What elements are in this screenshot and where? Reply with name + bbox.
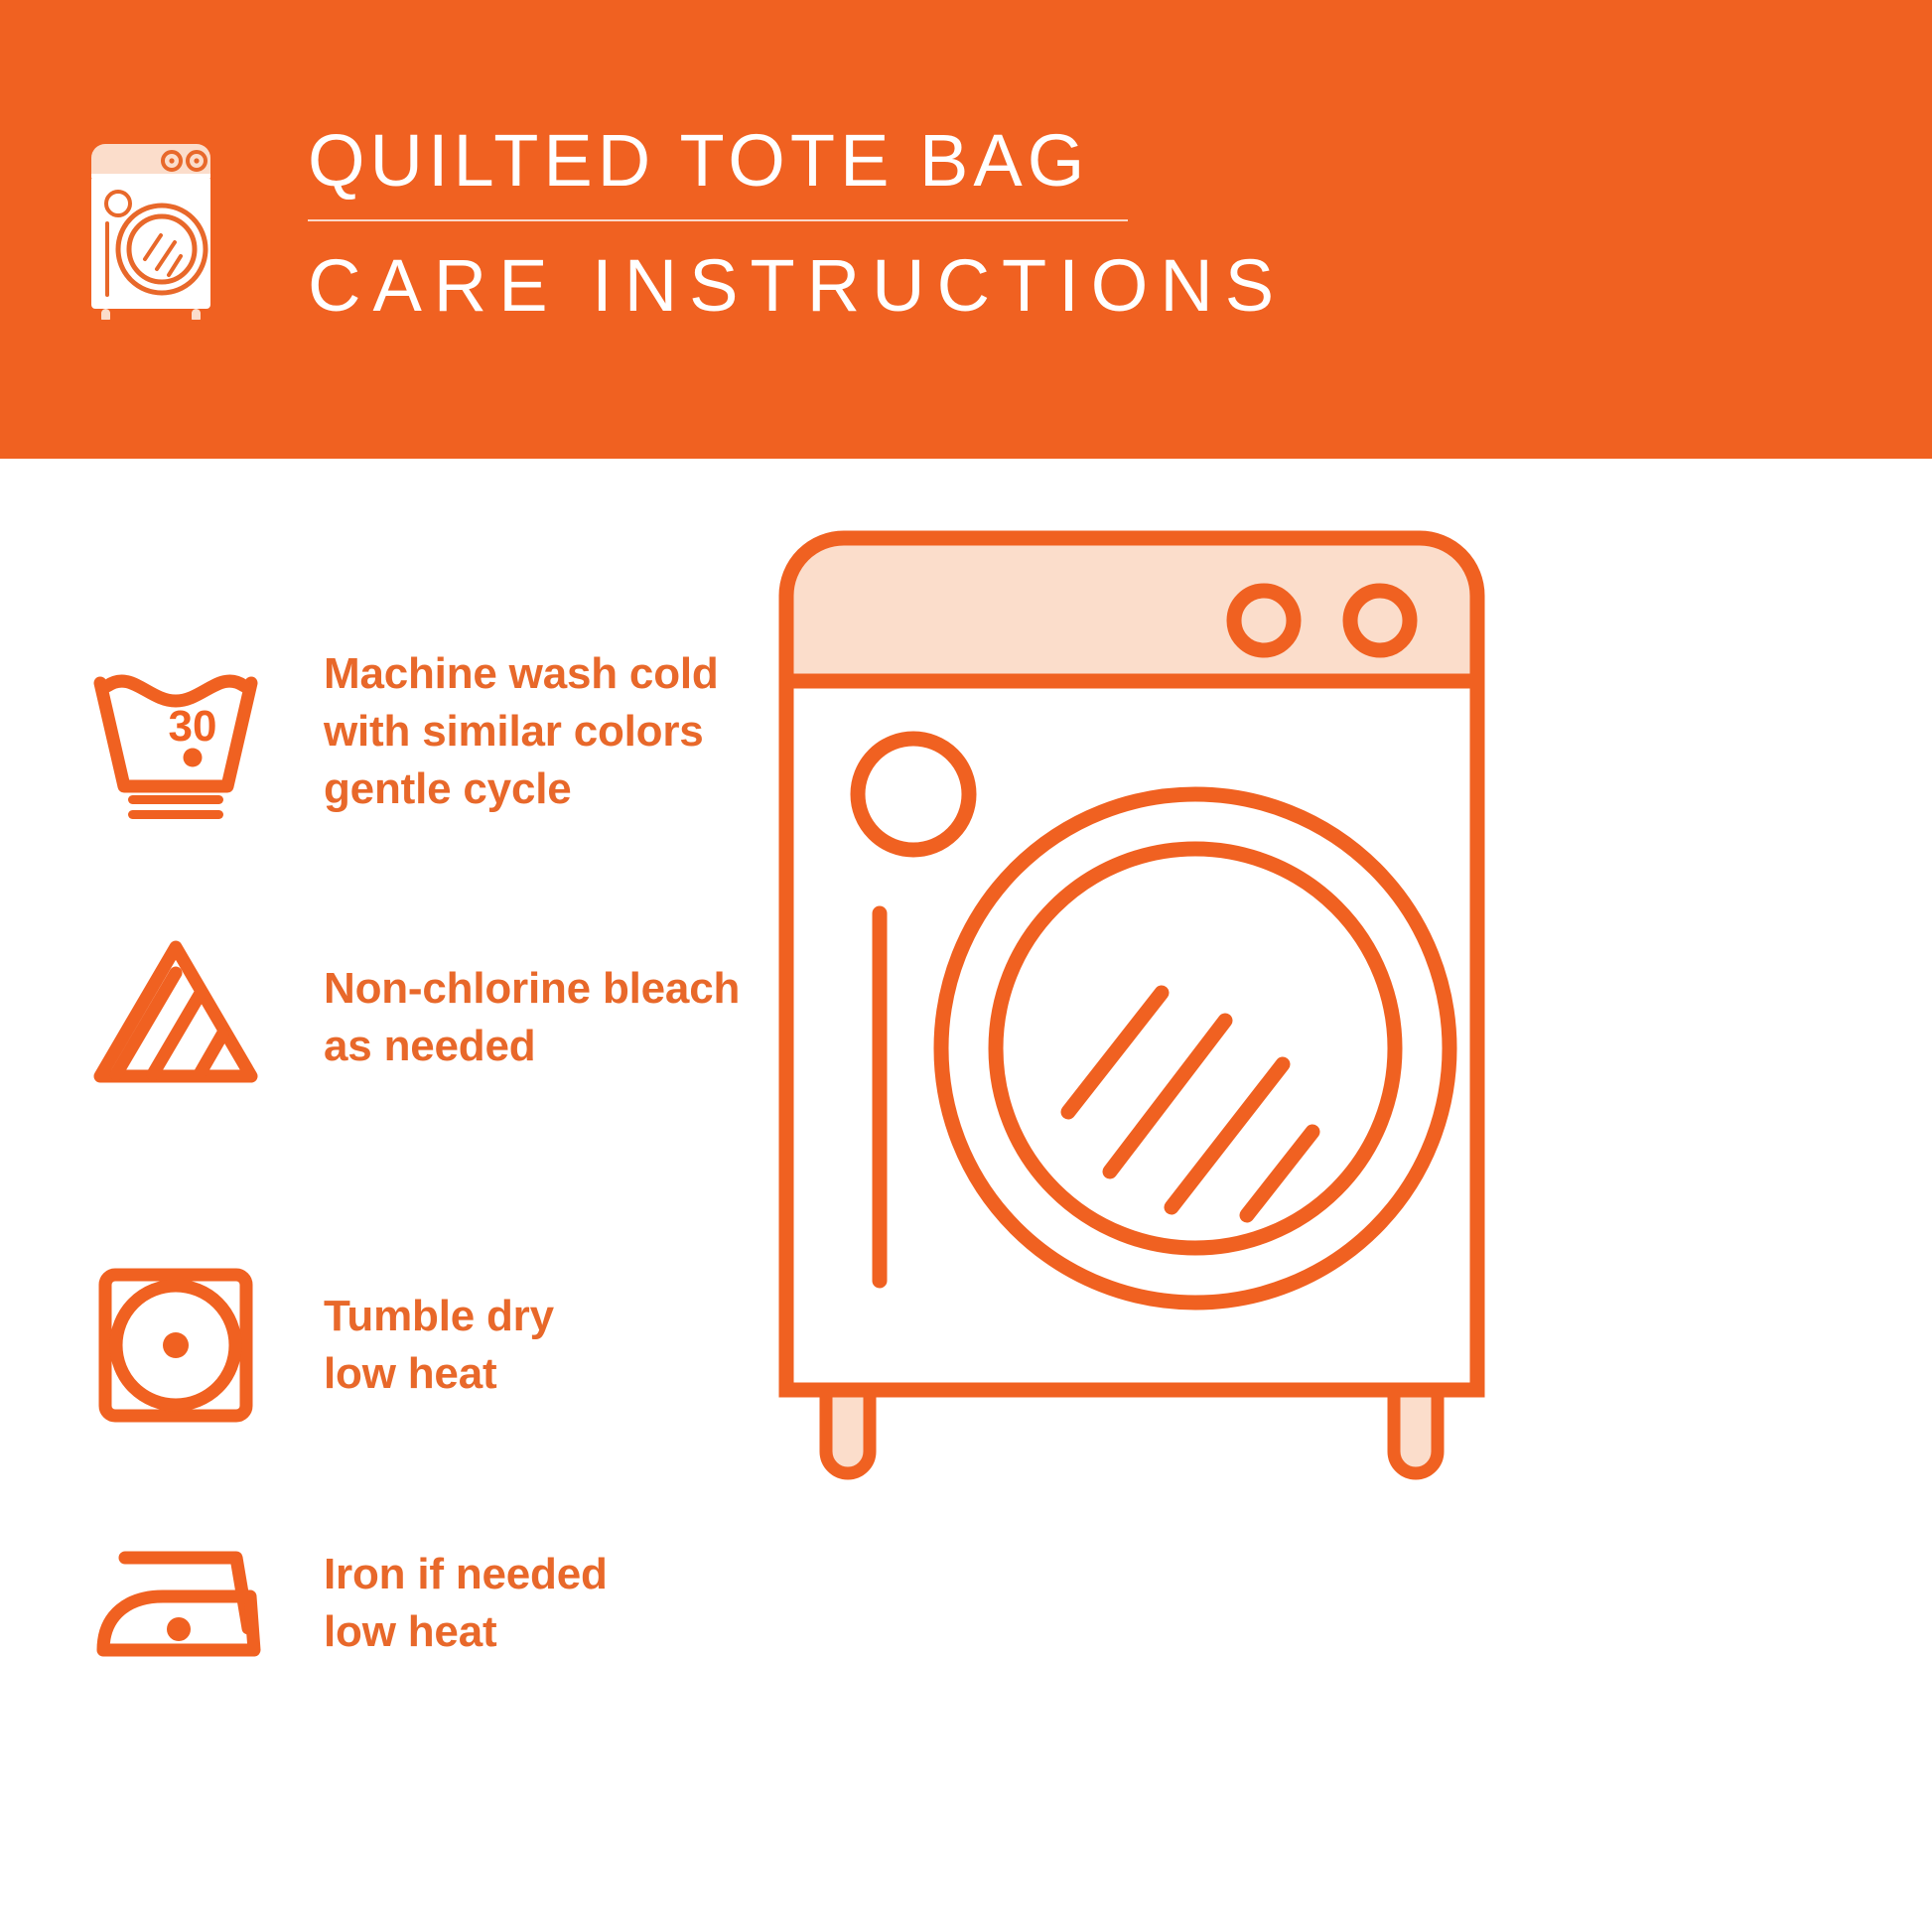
page-header: QUILTED TOTE BAG CARE INSTRUCTIONS: [0, 0, 1932, 459]
tumble-dry-low-heat-icon: [83, 1253, 268, 1438]
washing-machine-illustration: [764, 496, 1559, 1489]
detergent-port: [858, 739, 969, 850]
non-chlorine-bleach-triangle-icon: [83, 925, 268, 1110]
wash-temperature-value: 30: [169, 702, 217, 751]
leg-left: [826, 1390, 870, 1473]
leg-right: [1394, 1390, 1438, 1473]
header-content: QUILTED TOTE BAG CARE INSTRUCTIONS: [77, 124, 1286, 323]
care-item-label: Non-chlorine bleach as needed: [324, 960, 740, 1075]
door-glass-streaks: [1068, 993, 1312, 1215]
control-panel-fill: [786, 538, 1477, 681]
care-item-iron: Iron if needed low heat: [83, 1511, 897, 1696]
page-subtitle: CARE INSTRUCTIONS: [308, 221, 1286, 323]
care-item-label: Machine wash cold with similar colors ge…: [324, 645, 719, 818]
care-item-label: Tumble dry low heat: [324, 1288, 554, 1403]
washing-machine-icon: [77, 136, 236, 320]
page-title: QUILTED TOTE BAG: [308, 124, 1286, 219]
machine-legs: [826, 1390, 1438, 1473]
header-title-block: QUILTED TOTE BAG CARE INSTRUCTIONS: [308, 124, 1286, 323]
wash-tub-30-gentle-icon: 30: [83, 639, 268, 824]
front-load-washing-machine-illustration: [764, 496, 1559, 1489]
care-item-label: Iron if needed low heat: [324, 1546, 608, 1661]
iron-low-heat-icon: [83, 1511, 268, 1696]
